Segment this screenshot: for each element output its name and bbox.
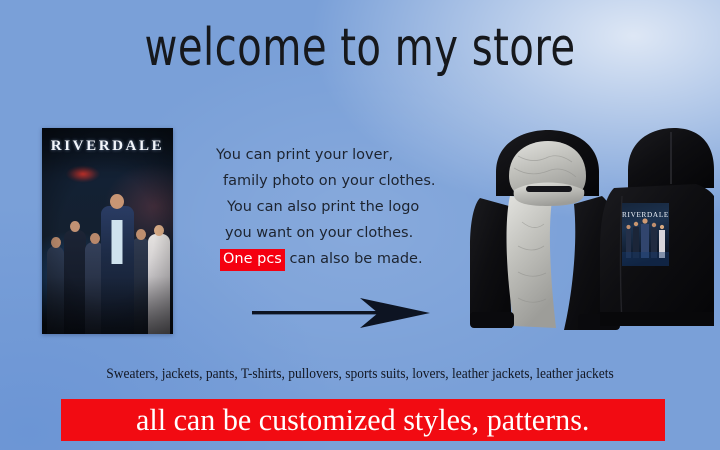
page-title: welcome to my store [50, 18, 669, 78]
description-line: You can print your lover, [216, 142, 466, 168]
customization-banner-text: all can be customized styles, patterns. [136, 403, 589, 437]
hoodie-back-print: RIVERDALE [600, 128, 714, 326]
description-line-highlighted: One pcs can also be made. [216, 246, 466, 272]
description-line: You can also print the logo [216, 194, 466, 220]
poster-title-text: RIVERDALE [42, 138, 173, 155]
description-text-block: You can print your lover, family photo o… [216, 142, 466, 272]
promo-banner: welcome to my store RIVERDALE You can pr… [0, 0, 720, 450]
poster-vignette [42, 128, 173, 334]
svg-text:RIVERDALE: RIVERDALE [622, 211, 669, 219]
one-pcs-badge: One pcs [220, 249, 285, 271]
hoodie-product-images: RIVERDALE [452, 126, 714, 338]
description-line: family photo on your clothes. [216, 168, 466, 194]
right-arrow-icon [252, 296, 432, 330]
riverdale-poster-image: RIVERDALE [42, 128, 173, 334]
product-list-text: Sweaters, jackets, pants, T-shirts, pull… [25, 366, 695, 383]
hoodie-print-poster: RIVERDALE [622, 203, 669, 266]
description-line: you want on your clothes. [216, 220, 466, 246]
customization-banner: all can be customized styles, patterns. [61, 399, 665, 441]
description-line-tail: can also be made. [285, 251, 423, 267]
hoodie-open-front [470, 130, 620, 330]
